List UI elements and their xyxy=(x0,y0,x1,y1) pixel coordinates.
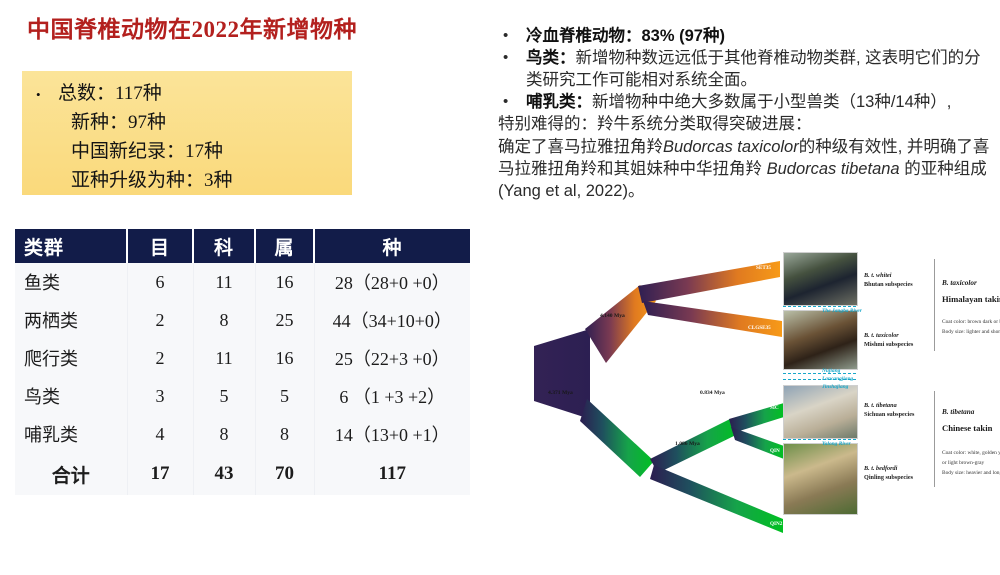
cell-genus: 25 xyxy=(255,301,314,339)
column-header-family: 科 xyxy=(193,229,255,263)
bullet-dot-icon: • xyxy=(503,92,508,112)
cell-species: 25（22+3 +0） xyxy=(314,339,470,377)
species-panel-himalayan: B. taxicolor Himalayan takin xyxy=(942,277,1000,307)
summary-lines: 总数：117种 新种：97种 中国新纪录：17种 亚种升级为种：3种 xyxy=(58,79,233,195)
subspecies-label-tibetana: B. t. tibetana Sichuan subspecies xyxy=(864,401,914,420)
species-desc-line: Coat color: white, golden yellow, xyxy=(942,448,1000,458)
cell-family: 8 xyxy=(193,415,255,453)
subspecies-sub: Mishmi subspecies xyxy=(864,340,913,349)
phylogeny-tree-svg xyxy=(530,251,1000,551)
table-row: 鸟类 3 5 5 6 （1 +3 +2） xyxy=(15,377,470,415)
note-label: 鸟类： xyxy=(526,49,576,67)
table-row: 哺乳类 4 8 8 14（13+0 +1） xyxy=(15,415,470,453)
tip-label-5: QIN2 xyxy=(770,521,782,527)
cell-genus: 5 xyxy=(255,377,314,415)
taxon-name-tibetana: Budorcas tibetana xyxy=(767,160,900,178)
panel-divider-upper xyxy=(934,259,935,351)
river-label-4: Jinshajiang xyxy=(822,383,848,392)
photo-qinling-takin xyxy=(783,443,858,515)
photo-mishmi-takin xyxy=(783,310,858,370)
note-label: 哺乳类： xyxy=(526,93,592,111)
takin-paragraph: 特别难得的：羚牛系统分类取得突破进展： 确定了喜马拉雅扭角羚Budorcas t… xyxy=(495,113,995,201)
table-total-row: 合计 17 43 70 117 xyxy=(15,453,470,495)
tree-branch-sichuan2 xyxy=(731,427,784,459)
table-header: 类群 目 科 属 种 xyxy=(15,229,470,263)
cell-family: 11 xyxy=(193,263,255,301)
page-title: 中国脊椎动物在2022年新增物种 xyxy=(27,10,357,44)
table-row: 爬行类 2 11 16 25（22+3 +0） xyxy=(15,339,470,377)
subspecies-sp: B. t. bedfordi xyxy=(864,464,913,473)
tree-branch-taxicolor xyxy=(643,301,782,337)
cell-species: 44（34+10+0） xyxy=(314,301,470,339)
tree-branch-bedfordi xyxy=(650,465,783,533)
cell-total-species: 117 xyxy=(314,453,470,495)
cell-group: 鸟类 xyxy=(15,377,127,415)
summary-line-new-record: 中国新纪录：17种 xyxy=(58,137,233,166)
species-common-name: Himalayan takin xyxy=(942,291,1000,307)
column-header-genus: 属 xyxy=(255,229,314,263)
note-label: 冷血脊椎动物： xyxy=(526,27,642,45)
cell-species: 28（28+0 +0） xyxy=(314,263,470,301)
cell-total-genus: 70 xyxy=(255,453,314,495)
summary-line-total: 总数：117种 xyxy=(58,79,233,108)
species-common-name: Chinese takin xyxy=(942,420,992,436)
bullet-dot-icon: • xyxy=(503,48,508,68)
subspecies-sp: B. t. taxicolor xyxy=(864,331,913,340)
summary-callout-box: • 总数：117种 新种：97种 中国新纪录：17种 亚种升级为种：3种 xyxy=(22,71,352,195)
table-header-row: 类群 目 科 属 种 xyxy=(15,229,470,263)
subspecies-sp: B. t. tibetana xyxy=(864,401,914,410)
table-row: 两栖类 2 8 25 44（34+10+0） xyxy=(15,301,470,339)
taxon-name-taxicolor: Budorcas taxicolor xyxy=(663,138,799,156)
species-desc-line: Body size: lighter and shorter body xyxy=(942,327,1000,337)
bullet-dot-icon: • xyxy=(503,26,508,46)
tip-label-3: SIC xyxy=(770,405,779,411)
cell-species: 14（13+0 +1） xyxy=(314,415,470,453)
cell-total-label: 合计 xyxy=(15,453,127,495)
tree-lower-stem xyxy=(580,399,654,477)
note-value: 83% (97种) xyxy=(642,27,725,45)
node-label-upper: 4.140 Mya xyxy=(600,313,625,319)
cell-family: 8 xyxy=(193,301,255,339)
subspecies-sp: B. t. whitei xyxy=(864,271,913,280)
list-item: • 鸟类：新增物种数远远低于其他脊椎动物类群, 这表明它们的分类研究工作可能相对… xyxy=(495,47,995,91)
node-label-lower: 1.086 Mya xyxy=(675,441,700,447)
tree-root-branch xyxy=(534,329,590,419)
cell-total-family: 43 xyxy=(193,453,255,495)
species-statistics-table: 类群 目 科 属 种 鱼类 6 11 16 28（28+0 +0） 两栖类 2 xyxy=(15,229,470,495)
summary-line-new-species: 新种：97种 xyxy=(58,108,233,137)
cell-order: 2 xyxy=(127,339,193,377)
note-value: 新增物种中绝大多数属于小型兽类（13种/14种）, xyxy=(592,93,951,111)
river-divider-2 xyxy=(783,373,856,374)
species-scientific-name: B. taxicolor xyxy=(942,277,1000,291)
subspecies-label-whitei: B. t. whitei Bhutan subspecies xyxy=(864,271,913,290)
slide-root: 中国脊椎动物在2022年新增物种 • 总数：117种 新种：97种 中国新纪录：… xyxy=(0,0,1000,569)
list-item: • 哺乳类：新增物种中绝大多数属于小型兽类（13种/14种）, xyxy=(495,91,995,113)
species-desc-line: Coat color: brown dark or black xyxy=(942,317,1000,327)
subspecies-label-taxicolor: B. t. taxicolor Mishmi subspecies xyxy=(864,331,913,350)
right-column: • 冷血脊椎动物：83% (97种) • 鸟类：新增物种数远远低于其他脊椎动物类… xyxy=(490,0,1000,569)
cell-group: 两栖类 xyxy=(15,301,127,339)
cell-total-order: 17 xyxy=(127,453,193,495)
subspecies-sub: Qinling subspecies xyxy=(864,473,913,482)
summary-bullet-icon: • xyxy=(36,88,41,101)
cell-order: 4 xyxy=(127,415,193,453)
list-item: • 冷血脊椎动物：83% (97种) xyxy=(495,25,995,47)
cell-order: 6 xyxy=(127,263,193,301)
summary-line-upgraded: 亚种升级为种：3种 xyxy=(58,166,233,195)
takin-paragraph-line-2: 确定了喜马拉雅扭角羚 xyxy=(498,138,663,156)
cell-order: 2 xyxy=(127,301,193,339)
cell-group: 爬行类 xyxy=(15,339,127,377)
cell-group: 鱼类 xyxy=(15,263,127,301)
cell-genus: 8 xyxy=(255,415,314,453)
tip-label-4: QIN xyxy=(770,448,780,454)
node-label-root: 4.371 Mya xyxy=(548,390,573,396)
column-header-order: 目 xyxy=(127,229,193,263)
photo-bhutan-takin xyxy=(783,252,858,306)
left-column: 中国脊椎动物在2022年新增物种 • 总数：117种 新种：97种 中国新纪录：… xyxy=(0,0,490,569)
subspecies-sub: Bhutan subspecies xyxy=(864,280,913,289)
column-header-species: 种 xyxy=(314,229,470,263)
subspecies-label-bedfordi: B. t. bedfordi Qinling subspecies xyxy=(864,464,913,483)
table-body: 鱼类 6 11 16 28（28+0 +0） 两栖类 2 8 25 44（34+… xyxy=(15,263,470,495)
species-desc-line: Body size: heavier and longer body xyxy=(942,468,1000,478)
subspecies-sub: Sichuan subspecies xyxy=(864,410,914,419)
species-scientific-name: B. tibetana xyxy=(942,406,992,420)
column-header-group: 类群 xyxy=(15,229,127,263)
notes-bullet-list: • 冷血脊椎动物：83% (97种) • 鸟类：新增物种数远远低于其他脊椎动物类… xyxy=(495,25,995,202)
cell-species: 6 （1 +3 +2） xyxy=(314,377,470,415)
cell-genus: 16 xyxy=(255,339,314,377)
tip-label-1: SET35 xyxy=(756,265,771,271)
phylogeny-figure: 4.371 Mya 4.140 Mya 1.086 Mya 0.834 Mya … xyxy=(530,251,1000,551)
panel-divider-lower xyxy=(934,391,935,487)
note-value: 新增物种数远远低于其他脊椎动物类群, 这表明它们的分类研究工作可能相对系统全面。 xyxy=(526,49,981,89)
cell-group: 哺乳类 xyxy=(15,415,127,453)
cell-genus: 16 xyxy=(255,263,314,301)
species-desc-himalayan: Coat color: brown dark or black Body siz… xyxy=(942,317,1000,337)
tip-label-2: CLGSE35 xyxy=(748,325,771,331)
table-row: 鱼类 6 11 16 28（28+0 +0） xyxy=(15,263,470,301)
river-label-1: The Jangba River xyxy=(822,307,862,316)
river-label-5: Yalong River xyxy=(822,440,851,449)
cell-family: 5 xyxy=(193,377,255,415)
photo-sichuan-takin xyxy=(783,385,858,439)
cell-family: 11 xyxy=(193,339,255,377)
node-label-inner: 0.834 Mya xyxy=(700,390,725,396)
cell-order: 3 xyxy=(127,377,193,415)
takin-paragraph-line-1: 特别难得的：羚牛系统分类取得突破进展： xyxy=(498,115,812,133)
species-desc-line: or light brown-gray xyxy=(942,458,1000,468)
species-panel-chinese: B. tibetana Chinese takin xyxy=(942,406,992,436)
species-desc-chinese: Coat color: white, golden yellow, or lig… xyxy=(942,448,1000,478)
